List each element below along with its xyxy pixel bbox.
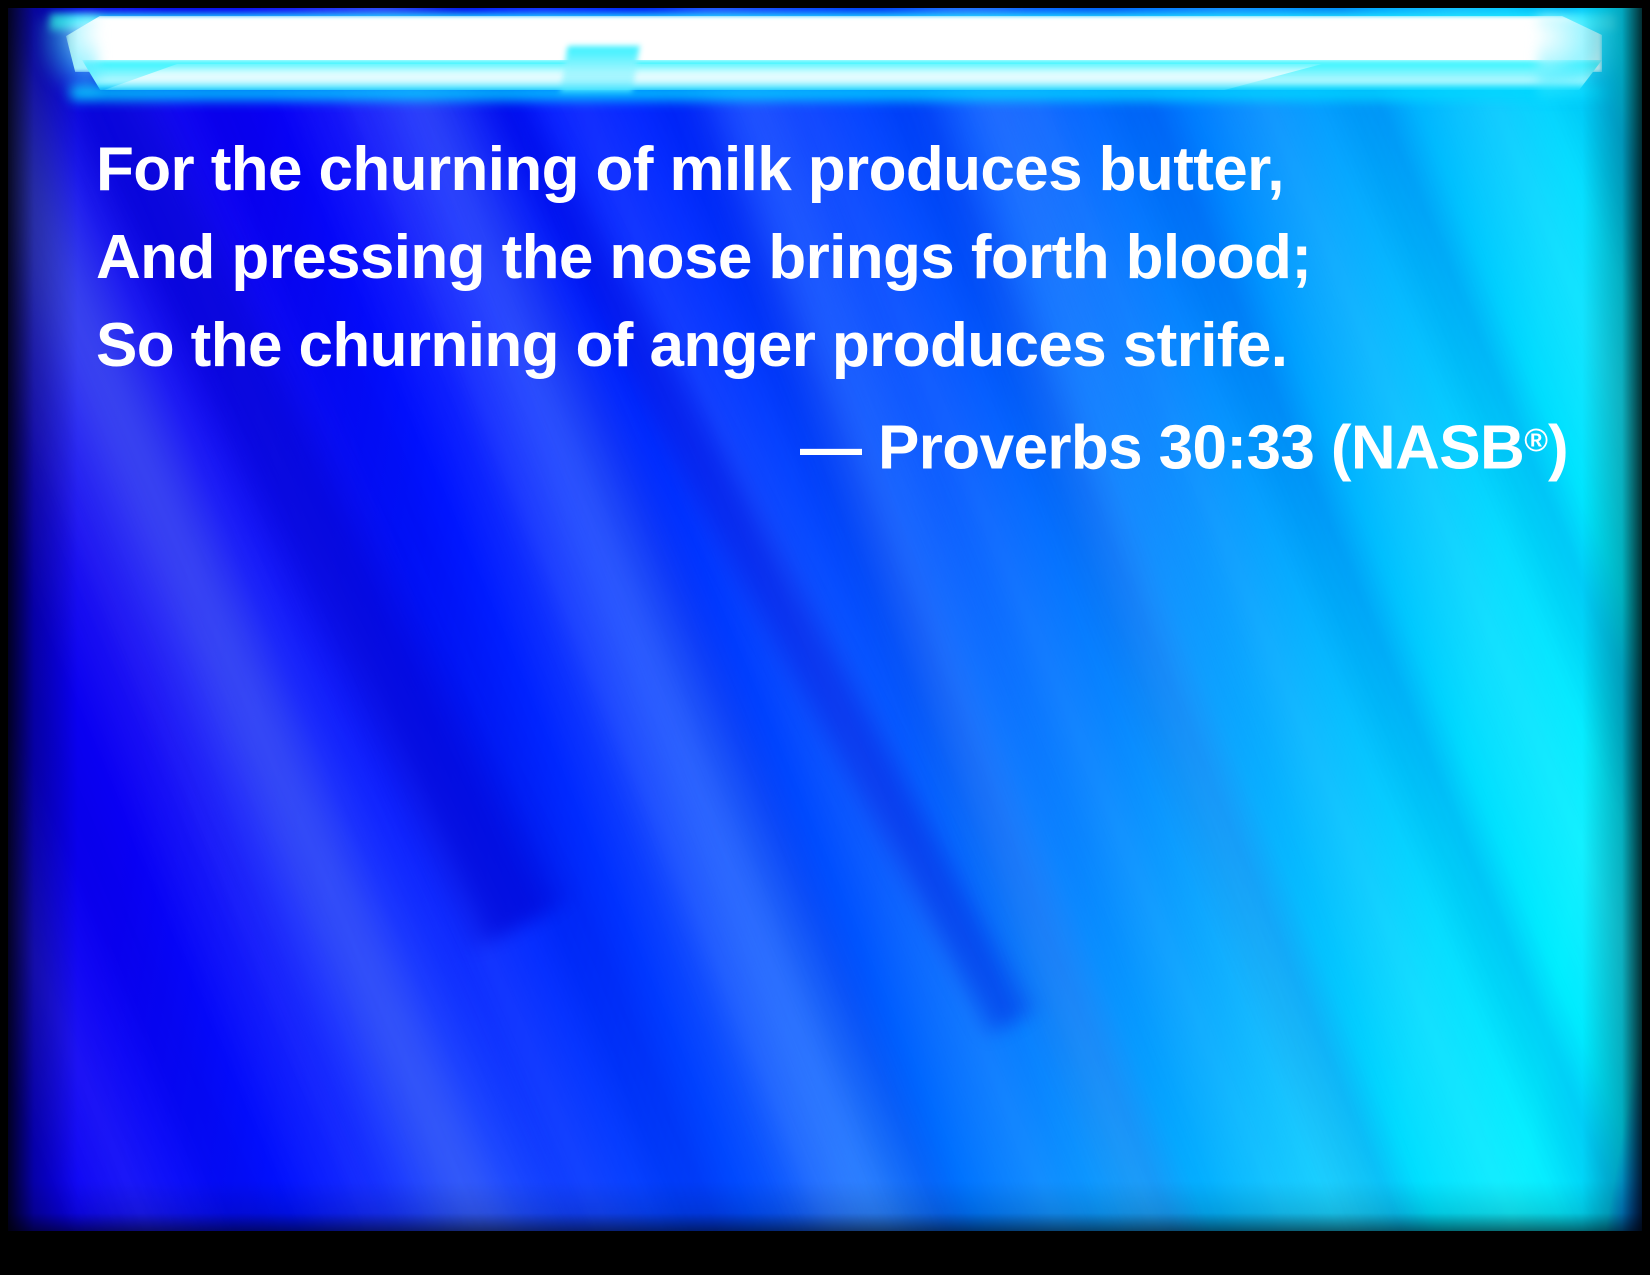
verse-line-2: And pressing the nose brings forth blood…	[96, 214, 1572, 302]
verse-line-1: For the churning of milk produces butter…	[96, 126, 1572, 214]
attribution-spacer	[861, 414, 878, 483]
slide-stage: For the churning of milk produces butter…	[8, 8, 1642, 1231]
scripture-slide: For the churning of milk produces butter…	[0, 0, 1650, 1275]
attribution-em-dash: —	[800, 414, 861, 483]
verse-text-block: For the churning of milk produces butter…	[8, 126, 1642, 493]
verse-attribution: — Proverbs 30:33 (NASB®)	[96, 396, 1572, 493]
attribution-translation-open: (NASB	[1331, 414, 1524, 483]
attribution-reference: Proverbs 30:33	[878, 414, 1314, 483]
attribution-spacer-2	[1314, 414, 1331, 483]
attribution-translation-close: )	[1548, 414, 1568, 483]
registered-trademark-icon: ®	[1524, 422, 1548, 458]
verse-line-3: So the churning of anger produces strife…	[96, 302, 1572, 390]
